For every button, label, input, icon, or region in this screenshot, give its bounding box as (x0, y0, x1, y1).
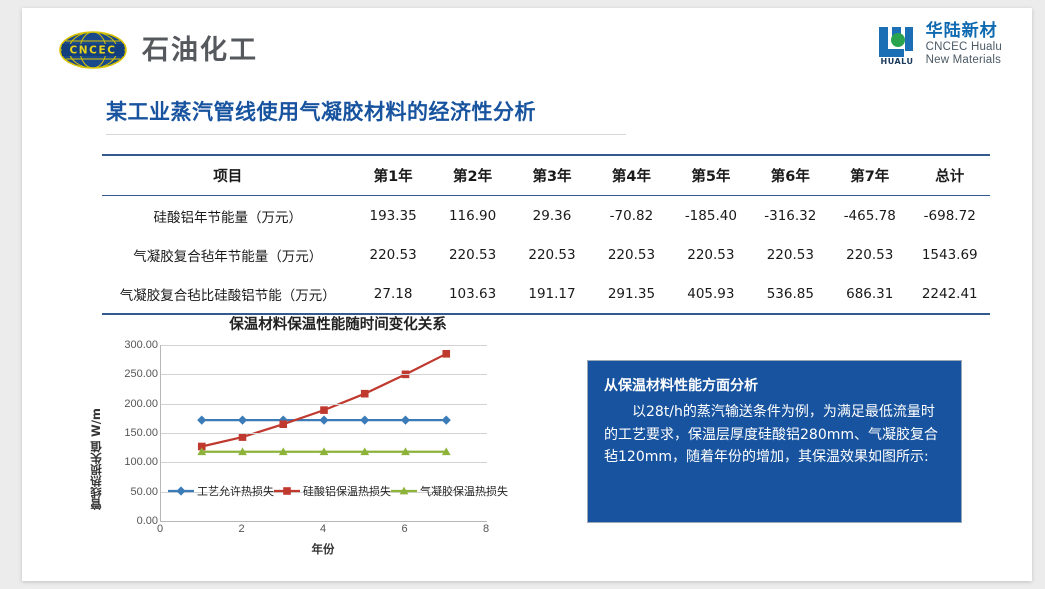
chart-legend-marker-icon (168, 486, 194, 496)
chart-data-point (197, 415, 206, 424)
chart-x-axis-ticks: 02468 (160, 523, 486, 541)
table-row-label: 气凝胶复合毡年节能量（万元） (102, 235, 353, 274)
table-cell: 220.53 (353, 235, 432, 274)
economics-table: 项目第1年第2年第3年第4年第5年第6年第7年总计 硅酸铝年节能量（万元）193… (102, 154, 990, 315)
chart-legend: 工艺允许热损失硅酸铝保温热损失气凝胶保温热损失 (168, 483, 484, 499)
chart-data-point (442, 350, 450, 358)
chart-legend-marker-icon (391, 486, 417, 496)
chart-x-tick-label: 2 (238, 523, 244, 535)
page-title: 某工业蒸汽管线使用气凝胶材料的经济性分析 (106, 96, 626, 126)
table-row-label: 气凝胶复合毡比硅酸铝节能（万元） (102, 274, 353, 314)
chart-legend-marker-icon (274, 486, 300, 496)
table-cell: 536.85 (751, 274, 830, 314)
table-head: 项目第1年第2年第3年第4年第5年第6年第7年总计 (102, 155, 990, 196)
table-body: 硅酸铝年节能量（万元）193.35116.9029.36-70.82-185.4… (102, 196, 990, 315)
chart-legend-item: 硅酸铝保温热损失 (274, 483, 391, 499)
chart-legend-item: 工艺允许热损失 (168, 483, 274, 499)
hualu-logo-text: HUALU (880, 57, 913, 65)
header-left-brand-label: 石油化工 (142, 37, 258, 64)
table-cell: 686.31 (830, 274, 909, 314)
table-cell: 220.53 (512, 235, 591, 274)
header-right-brand: HUALU 华陆新材 CNCEC Hualu New Materials (875, 22, 1002, 67)
slide-card: CNCEC 石油化工 HUALU 华陆新材 CNCEC Hualu New Ma… (22, 8, 1032, 581)
header-left-brand: CNCEC 石油化工 (56, 30, 258, 70)
table-cell: 2242.41 (909, 274, 990, 314)
chart-y-axis-ticks: 0.0050.00100.00150.00200.00250.00300.00 (102, 345, 158, 521)
table-cell: 220.53 (751, 235, 830, 274)
cncec-globe-logo-icon: CNCEC (56, 30, 130, 70)
table-cell: 291.35 (592, 274, 671, 314)
chart-x-tick-label: 8 (483, 523, 489, 535)
chart-x-axis-label: 年份 (160, 541, 486, 557)
analysis-callout: 从保温材料性能方面分析 以28t/h的蒸汽输送条件为例，为满足最低流量时的工艺要… (587, 360, 962, 523)
line-chart: 保温材料保温性能随时间变化关系 管线热损失值 W/m 0.0050.00100.… (88, 313, 558, 568)
chart-gridline (161, 374, 487, 375)
chart-data-point (238, 415, 247, 424)
chart-data-point (360, 415, 369, 424)
chart-legend-label: 硅酸铝保温热损失 (303, 483, 391, 499)
hualu-brand-cn: 华陆新材 (926, 22, 1002, 41)
economics-table-wrapper: 项目第1年第2年第3年第4年第5年第6年第7年总计 硅酸铝年节能量（万元）193… (102, 154, 990, 315)
chart-gridline (161, 433, 487, 434)
table-cell: -698.72 (909, 196, 990, 236)
table-cell: 220.53 (830, 235, 909, 274)
table-cell: 405.93 (671, 274, 750, 314)
chart-data-point (176, 486, 185, 495)
callout-heading: 从保温材料性能方面分析 (604, 375, 945, 395)
table-col-header: 第4年 (592, 155, 671, 196)
chart-y-tick-label: 100.00 (106, 456, 158, 468)
table-cell: -70.82 (592, 196, 671, 236)
table-row: 气凝胶复合毡比硅酸铝节能（万元）27.18103.63191.17291.354… (102, 274, 990, 314)
chart-data-point (239, 433, 247, 441)
chart-gridline (161, 462, 487, 463)
chart-data-point (283, 487, 291, 495)
table-cell: -185.40 (671, 196, 750, 236)
chart-y-tick-label: 250.00 (106, 368, 158, 380)
chart-gridline (161, 404, 487, 405)
chart-plot-area: 管线热损失值 W/m 0.0050.00100.00150.00200.0025… (88, 345, 558, 567)
table-row: 硅酸铝年节能量（万元）193.35116.9029.36-70.82-185.4… (102, 196, 990, 236)
table-row-label: 硅酸铝年节能量（万元） (102, 196, 353, 236)
chart-legend-item: 气凝胶保温热损失 (391, 483, 508, 499)
table-cell: 220.53 (433, 235, 512, 274)
table-cell: 191.17 (512, 274, 591, 314)
table-cell: -465.78 (830, 196, 909, 236)
table-row: 气凝胶复合毡年节能量（万元）220.53220.53220.53220.5322… (102, 235, 990, 274)
chart-legend-label: 气凝胶保温热损失 (420, 483, 508, 499)
table-header-row: 项目第1年第2年第3年第4年第5年第6年第7年总计 (102, 155, 990, 196)
table-col-header: 第6年 (751, 155, 830, 196)
slide-canvas: CNCEC 石油化工 HUALU 华陆新材 CNCEC Hualu New Ma… (0, 0, 1045, 589)
page-title-block: 某工业蒸汽管线使用气凝胶材料的经济性分析 (106, 96, 626, 135)
chart-x-tick-label: 6 (401, 523, 407, 535)
table-cell: -316.32 (751, 196, 830, 236)
callout-body: 以28t/h的蒸汽输送条件为例，为满足最低流量时的工艺要求，保温层厚度硅酸铝28… (604, 401, 945, 469)
table-cell: 220.53 (592, 235, 671, 274)
title-divider (106, 134, 626, 135)
chart-gridline (161, 345, 487, 346)
chart-y-tick-label: 0.00 (106, 515, 158, 527)
table-cell: 1543.69 (909, 235, 990, 274)
table-cell: 103.63 (433, 274, 512, 314)
chart-x-tick-label: 0 (157, 523, 163, 535)
hualu-brand-en-line1: CNCEC Hualu (926, 41, 1002, 54)
table-col-header: 第2年 (433, 155, 512, 196)
table-col-header: 项目 (102, 155, 353, 196)
table-col-header: 第5年 (671, 155, 750, 196)
hualu-brand-text: 华陆新材 CNCEC Hualu New Materials (926, 22, 1002, 67)
table-cell: 29.36 (512, 196, 591, 236)
chart-data-point (361, 390, 369, 398)
chart-data-point (279, 420, 287, 428)
table-cell: 27.18 (353, 274, 432, 314)
chart-y-tick-label: 150.00 (106, 427, 158, 439)
table-cell: 116.90 (433, 196, 512, 236)
cncec-logo-text: CNCEC (69, 45, 116, 57)
table-col-header: 第1年 (353, 155, 432, 196)
chart-y-tick-label: 50.00 (106, 486, 158, 498)
chart-data-point (320, 406, 328, 414)
chart-data-point (442, 415, 451, 424)
chart-data-point (319, 415, 328, 424)
hualu-logo-icon: HUALU (875, 23, 919, 65)
table-col-header: 第7年 (830, 155, 909, 196)
chart-data-point (401, 415, 410, 424)
table-cell: 193.35 (353, 196, 432, 236)
chart-y-tick-label: 200.00 (106, 398, 158, 410)
chart-title: 保温材料保温性能随时间变化关系 (88, 313, 558, 334)
chart-x-tick-label: 4 (320, 523, 326, 535)
table-col-header: 第3年 (512, 155, 591, 196)
hualu-brand-en-line2: New Materials (926, 54, 1002, 67)
chart-y-tick-label: 300.00 (106, 339, 158, 351)
chart-legend-label: 工艺允许热损失 (197, 483, 274, 499)
table-cell: 220.53 (671, 235, 750, 274)
table-col-header: 总计 (909, 155, 990, 196)
